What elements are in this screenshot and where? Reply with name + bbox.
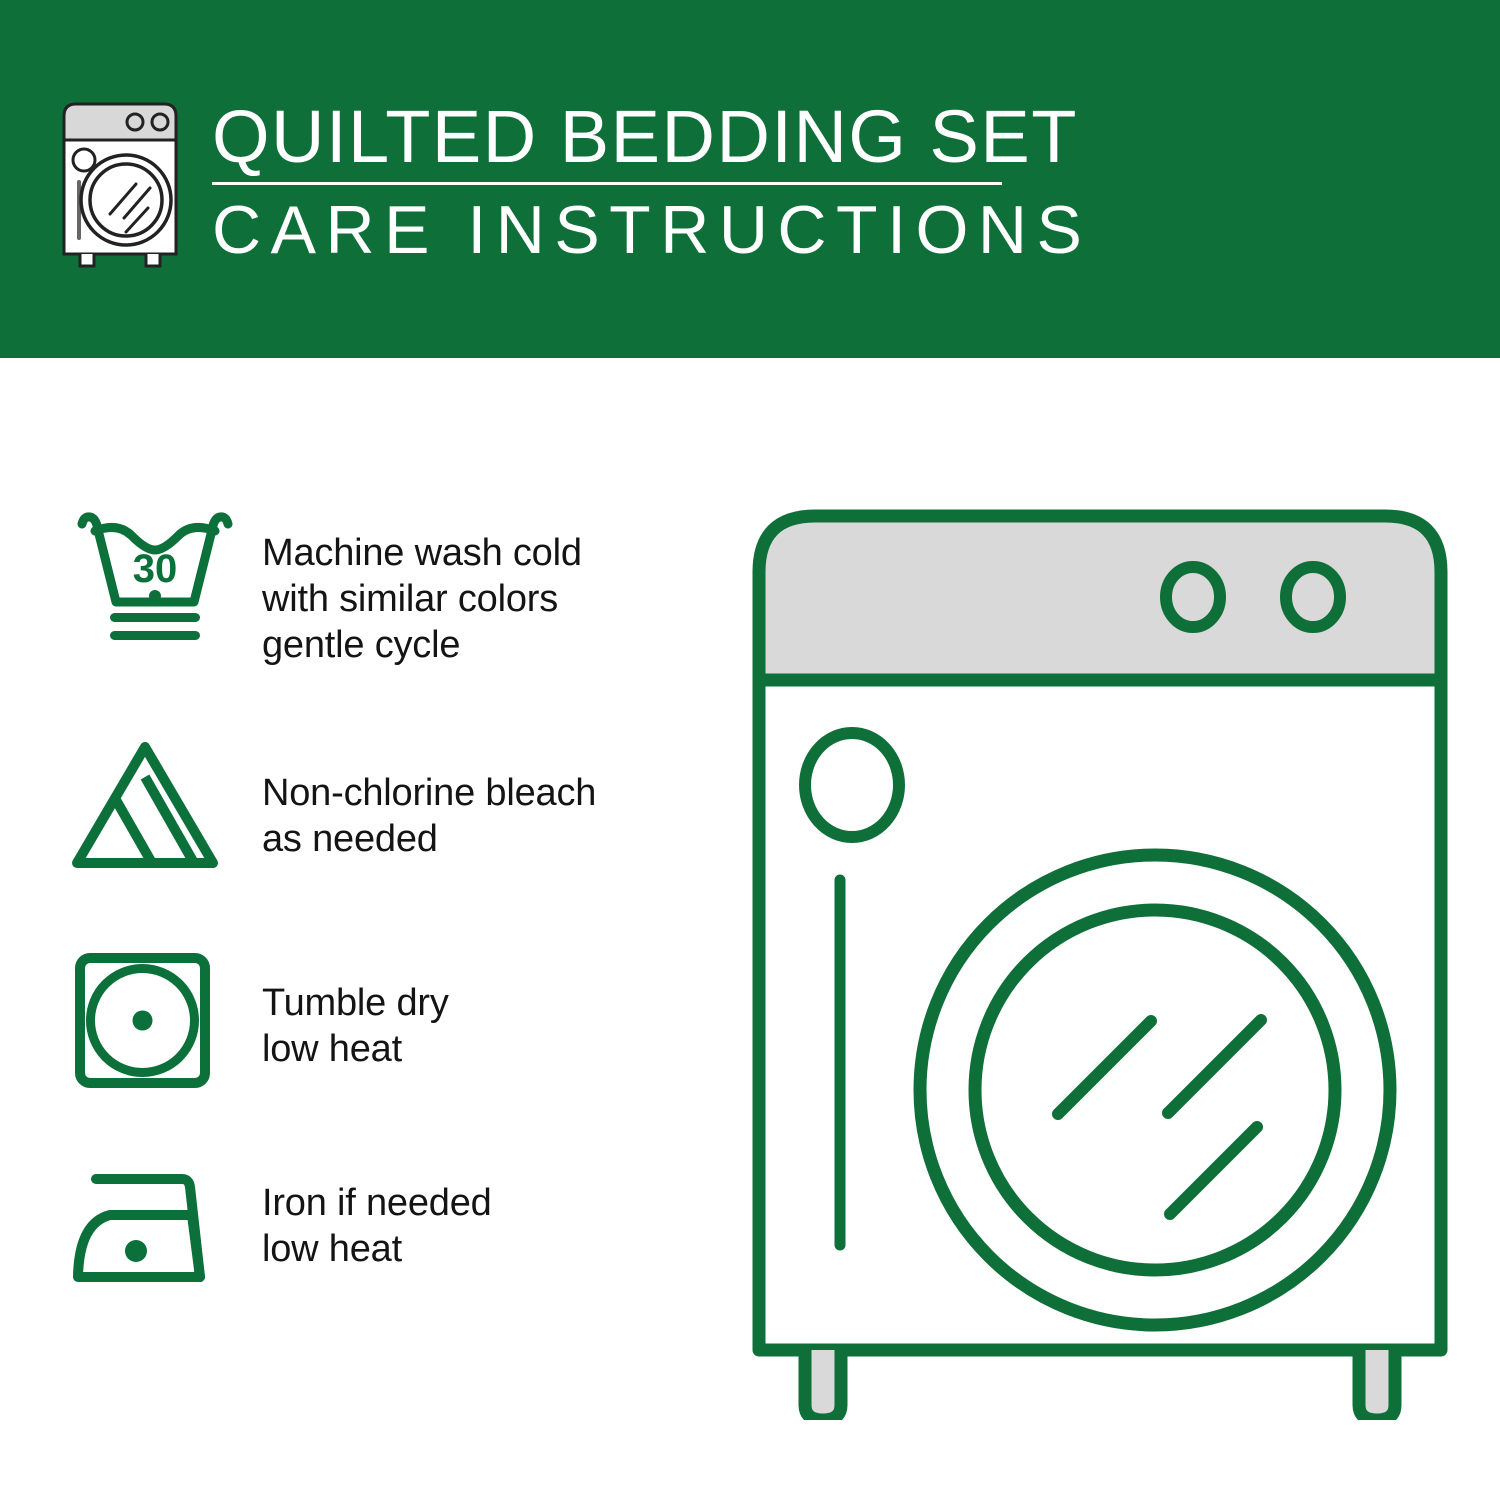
- header-content: QUILTED BEDDING SET CARE INSTRUCTIONS: [58, 96, 1091, 268]
- care-row-tumble-dry: Tumble dry low heat: [70, 940, 730, 1155]
- washing-machine-icon: [58, 96, 190, 268]
- care-line: Tumble dry: [262, 980, 449, 1026]
- care-line: low heat: [262, 1026, 449, 1072]
- care-label-iron: Iron if needed low heat: [240, 1155, 492, 1272]
- header-banner: QUILTED BEDDING SET CARE INSTRUCTIONS: [0, 0, 1500, 358]
- wash-basin-30-gentle-icon: 30: [70, 510, 240, 650]
- page-title: QUILTED BEDDING SET: [212, 98, 1091, 176]
- care-instruction-list: 30 Machine wash cold with similar colors…: [70, 510, 730, 1370]
- tumble-dry-low-heat-icon: [70, 940, 240, 1093]
- care-label-tumble-dry: Tumble dry low heat: [240, 940, 449, 1072]
- title-block: QUILTED BEDDING SET CARE INSTRUCTIONS: [212, 96, 1091, 267]
- care-line: Iron if needed: [262, 1180, 492, 1226]
- iron-low-heat-icon: [70, 1155, 240, 1295]
- care-label-bleach: Non-chlorine bleach as needed: [240, 725, 596, 862]
- front-load-washing-machine-illustration: [745, 500, 1455, 1420]
- care-line: Non-chlorine bleach: [262, 770, 596, 816]
- care-row-iron: Iron if needed low heat: [70, 1155, 730, 1370]
- care-line: Machine wash cold: [262, 530, 582, 576]
- care-row-bleach: Non-chlorine bleach as needed: [70, 725, 730, 940]
- care-instructions-page: QUILTED BEDDING SET CARE INSTRUCTIONS 30: [0, 0, 1500, 1500]
- care-line: with similar colors: [262, 576, 582, 622]
- care-line: as needed: [262, 816, 596, 862]
- care-line: low heat: [262, 1226, 492, 1272]
- bleach-triangle-non-chlorine-icon: [70, 725, 240, 880]
- title-divider: [212, 182, 1002, 185]
- care-row-machine-wash: 30 Machine wash cold with similar colors…: [70, 510, 730, 725]
- care-line: gentle cycle: [262, 622, 582, 668]
- page-subtitle: CARE INSTRUCTIONS: [212, 193, 1091, 267]
- svg-text:30: 30: [133, 547, 178, 591]
- leg-right: [1359, 1350, 1395, 1420]
- leg-left: [805, 1350, 841, 1420]
- care-label-machine-wash: Machine wash cold with similar colors ge…: [240, 510, 582, 668]
